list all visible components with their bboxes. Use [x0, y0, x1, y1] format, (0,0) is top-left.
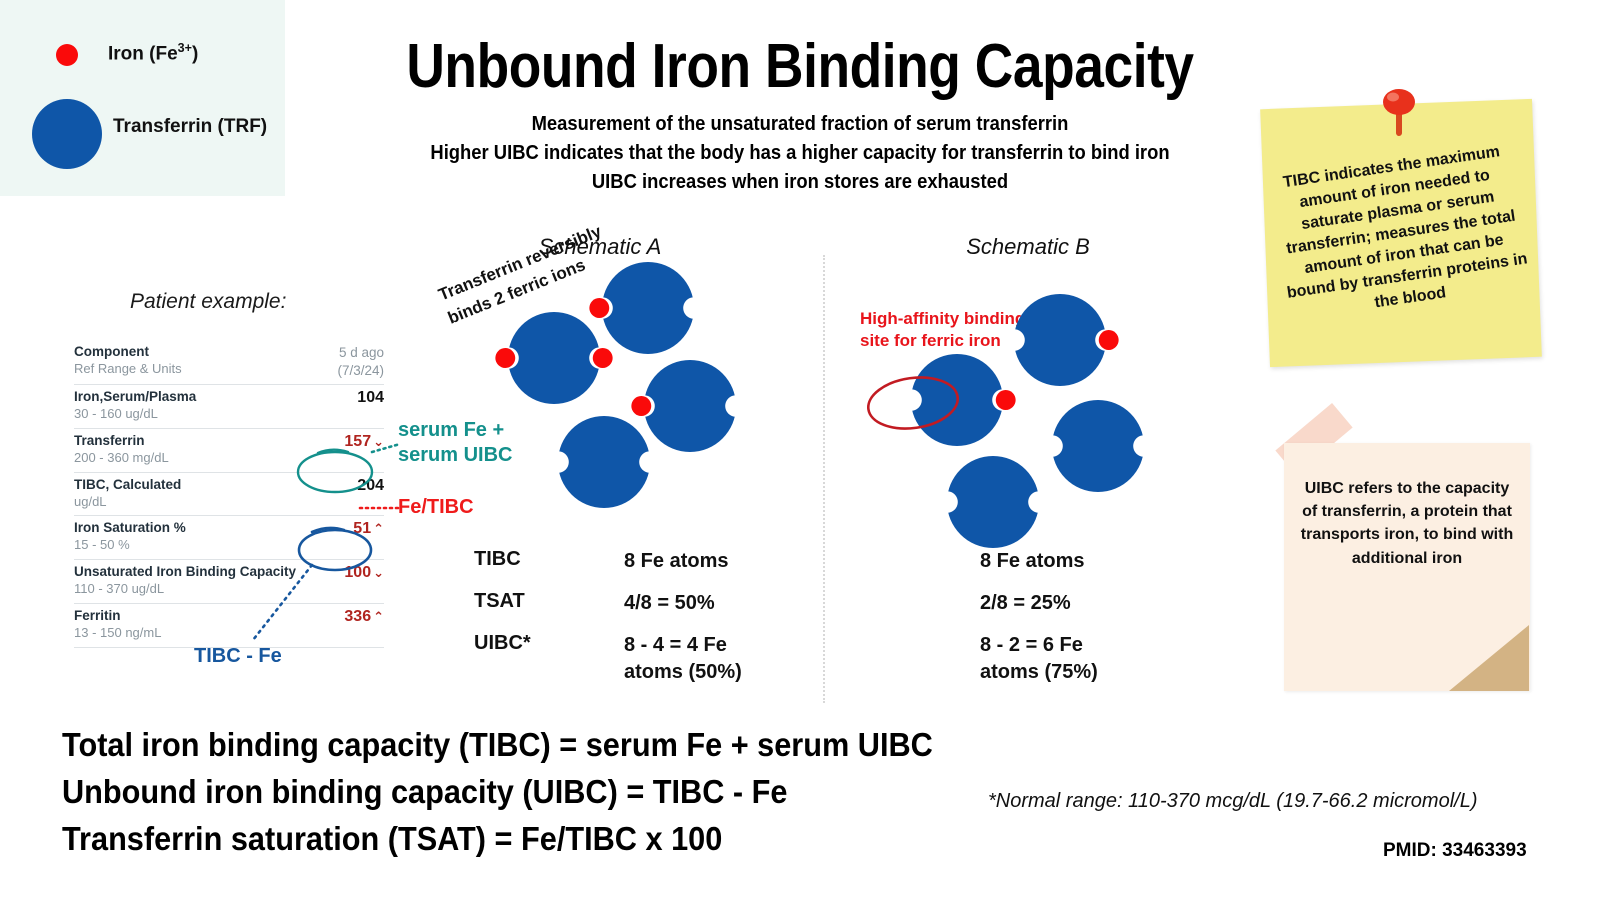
transferrin-molecule-b — [1041, 400, 1155, 492]
formula-tsat: Transferrin saturation (TSAT) = Fe/TIBC … — [62, 816, 936, 863]
legend-iron-charge: 3+ — [178, 41, 192, 55]
annotation-tibc-formula: serum Fe + serum UIBC — [398, 418, 512, 468]
schematic-a-callout: Transferrin reversibly binds 2 ferric io… — [435, 210, 639, 331]
lab-component-name: Ferritin — [74, 608, 161, 625]
legend-label-transferrin: Transferrin (TRF) — [113, 116, 267, 138]
table-row: UIBC* 8 - 4 = 4 Fe atoms (50%) — [474, 632, 784, 686]
legend-panel: Iron (Fe3+) Transferrin (TRF) — [0, 0, 285, 196]
binding-site-notch-right — [1133, 435, 1155, 457]
table-row: 8 Fe atoms — [980, 548, 1140, 575]
binding-site-notch-left — [591, 297, 613, 319]
binding-site-notch-right — [992, 389, 1014, 411]
annotation-tibc-line1: serum Fe + — [398, 418, 512, 443]
lab-value-number: 104 — [357, 389, 384, 406]
schematic-a-tsat-value: 4/8 = 50% — [624, 590, 715, 617]
note-folded-corner — [1449, 625, 1529, 691]
schematic-a-tibc-key: TIBC — [474, 548, 624, 575]
transferrin-molecule-a — [495, 312, 612, 404]
annotation-tibc-line2: serum UIBC — [398, 443, 512, 468]
schematic-divider — [823, 255, 825, 703]
schematic-a-uibc-key: UIBC* — [474, 632, 624, 686]
schematic-b-callout-line2: site for ferric iron — [860, 330, 1070, 352]
transferrin-molecule-a — [589, 262, 704, 354]
legend-iron-text: Iron (Fe — [108, 43, 178, 64]
lab-value-number: 100 — [344, 564, 371, 581]
subtitle-line-1: Measurement of the unsaturated fraction … — [368, 110, 1233, 139]
binding-site-notch-right — [1095, 329, 1117, 351]
schematic-a-uibc-value: 8 - 4 = 4 Fe atoms (50%) — [624, 632, 784, 686]
column-header-component: Component — [74, 344, 182, 361]
lab-results-table: Component Ref Range & Units 5 d ago (7/3… — [74, 340, 384, 648]
table-row: 2/8 = 25% — [980, 590, 1140, 617]
transferrin-molecule-a — [631, 360, 746, 452]
lab-ref-range: 200 - 360 mg/dL — [74, 450, 169, 467]
transferrin-circle-icon — [32, 99, 102, 169]
lab-rows-container: Iron,Serum/Plasma30 - 160 ug/dL104Transf… — [74, 385, 384, 648]
normal-range-footnote: *Normal range: 110-370 mcg/dL (19.7-66.2… — [988, 790, 1478, 813]
binding-site-notch-left — [633, 395, 655, 417]
transferrin-body — [1052, 400, 1144, 492]
formula-tibc: Total iron binding capacity (TIBC) = ser… — [62, 722, 936, 769]
binding-site-notch-right — [725, 395, 747, 417]
lab-component-name: Iron Saturation % — [74, 520, 186, 537]
lab-value: 51⌃ — [347, 520, 384, 538]
schematic-b-callout-line1: High-affinity binding — [860, 308, 1070, 330]
lab-ref-range: 15 - 50 % — [74, 537, 186, 554]
lab-ref-range: ug/dL — [74, 494, 181, 511]
lab-value-number: 336 — [344, 608, 371, 625]
schematic-b-tsat-value: 2/8 = 25% — [980, 590, 1071, 617]
schematic-b-callout: High-affinity binding site for ferric ir… — [860, 308, 1070, 352]
iron-ion-right — [1099, 330, 1119, 350]
schematic-a-tibc-value: 8 Fe atoms — [624, 548, 728, 575]
binding-site-notch-left — [1041, 435, 1063, 457]
lab-value: 157⌄ — [338, 433, 384, 451]
page-subtitles: Measurement of the unsaturated fraction … — [330, 110, 1270, 197]
transferrin-body — [558, 416, 650, 508]
column-header-date-absolute: (7/3/24) — [337, 362, 384, 380]
table-header-row: Component Ref Range & Units 5 d ago (7/3… — [74, 340, 384, 385]
annotation-tsat-formula: Fe/TIBC — [398, 496, 474, 519]
lab-ref-range: 110 - 370 ug/dL — [74, 581, 296, 598]
transferrin-molecule-a — [547, 416, 661, 508]
transferrin-body — [508, 312, 600, 404]
lab-value: 100⌄ — [338, 564, 384, 582]
schematic-a-values: TIBC 8 Fe atoms TSAT 4/8 = 50% UIBC* 8 -… — [474, 548, 784, 701]
table-row: 8 - 2 = 6 Fe atoms (75%) — [980, 632, 1140, 686]
formula-uibc: Unbound iron binding capacity (UIBC) = T… — [62, 769, 936, 816]
lab-flag-arrow-icon: ⌄ — [373, 565, 384, 580]
lab-ref-range: 30 - 160 ug/dL — [74, 406, 196, 423]
table-row: Iron,Serum/Plasma30 - 160 ug/dL104 — [74, 385, 384, 429]
table-row: TIBC, Calculatedug/dL204 — [74, 473, 384, 517]
schematic-b-title: Schematic B — [908, 234, 1148, 260]
lab-component-name: Unsaturated Iron Binding Capacity — [74, 564, 296, 581]
lab-ref-range: 13 - 150 ng/mL — [74, 625, 161, 642]
column-header-date-relative: 5 d ago — [339, 345, 384, 360]
high-affinity-ellipse — [865, 372, 961, 434]
iron-dot-icon — [56, 44, 78, 66]
table-row: Iron Saturation %15 - 50 %51⌃ — [74, 516, 384, 560]
page-title: Unbound Iron Binding Capacity — [396, 34, 1204, 99]
transferrin-body — [947, 456, 1039, 548]
binding-site-notch-left — [497, 347, 519, 369]
legend-label-iron: Iron (Fe3+) — [108, 41, 198, 65]
transferrin-body — [602, 262, 694, 354]
lab-flag-arrow-icon: ⌃ — [373, 609, 384, 624]
lab-flag-arrow-icon: ⌄ — [373, 434, 384, 449]
table-row: Transferrin200 - 360 mg/dL157⌄ — [74, 429, 384, 473]
legend-iron-paren: ) — [192, 43, 198, 64]
annotation-uibc-formula: TIBC - Fe — [194, 645, 282, 668]
subtitle-line-2: Higher UIBC indicates that the body has … — [368, 139, 1233, 168]
lab-value-number: 157 — [344, 433, 371, 450]
transferrin-body — [911, 354, 1003, 446]
binding-site-notch-left — [547, 451, 569, 473]
binding-site-notch-right — [639, 451, 661, 473]
transferrin-molecule-b — [900, 354, 1015, 446]
lab-value-number: 51 — [353, 520, 371, 537]
lab-value-number: 204 — [357, 477, 384, 494]
schematic-b-tibc-value: 8 Fe atoms — [980, 548, 1084, 575]
lab-flag-arrow-icon: ⌃ — [373, 521, 384, 536]
binding-site-notch-right — [683, 297, 705, 319]
table-row: Ferritin13 - 150 ng/mL336⌃ — [74, 604, 384, 648]
lab-value: 336⌃ — [338, 608, 384, 626]
transferrin-body — [644, 360, 736, 452]
binding-site-notch-right — [589, 347, 611, 369]
subtitle-line-3: UIBC increases when iron stores are exha… — [368, 168, 1233, 197]
pmid-reference: PMID: 33463393 — [1383, 840, 1527, 862]
sticky-note-uibc-text: UIBC refers to the capacity of transferr… — [1300, 477, 1514, 570]
lab-component-name: Transferrin — [74, 433, 169, 450]
table-row: Unsaturated Iron Binding Capacity110 - 3… — [74, 560, 384, 604]
schematic-b-uibc-value: 8 - 2 = 6 Fe atoms (75%) — [980, 632, 1140, 686]
iron-ion-left — [631, 396, 651, 416]
binding-site-notch-left — [936, 491, 958, 513]
lab-value: 104 — [351, 389, 384, 407]
lab-component-name: TIBC, Calculated — [74, 477, 181, 494]
lab-value: 204 — [351, 477, 384, 495]
lab-component-name: Iron,Serum/Plasma — [74, 389, 196, 406]
table-row: TSAT 4/8 = 50% — [474, 590, 784, 617]
pushpin-icon — [1379, 88, 1419, 138]
column-header-refrange: Ref Range & Units — [74, 361, 182, 378]
schematic-b-values: 8 Fe atoms 2/8 = 25% 8 - 2 = 6 Fe atoms … — [980, 548, 1140, 701]
sticky-note-tibc: TIBC indicates the maximum amount of iro… — [1260, 99, 1542, 367]
iron-ion-left — [589, 298, 609, 318]
formula-block: Total iron binding capacity (TIBC) = ser… — [62, 722, 1002, 863]
schematic-a-tsat-key: TSAT — [474, 590, 624, 617]
binding-site-notch-left — [900, 389, 922, 411]
iron-ion-left — [495, 348, 515, 368]
iron-ion-right — [996, 390, 1016, 410]
patient-example-label: Patient example: — [130, 290, 286, 314]
high-affinity-site-marker — [860, 360, 1020, 450]
table-row: TIBC 8 Fe atoms — [474, 548, 784, 575]
iron-ion-right — [593, 348, 613, 368]
sticky-note-tibc-text: TIBC indicates the maximum amount of iro… — [1269, 139, 1533, 327]
transferrin-molecule-b — [936, 456, 1050, 548]
binding-site-notch-right — [1028, 491, 1050, 513]
